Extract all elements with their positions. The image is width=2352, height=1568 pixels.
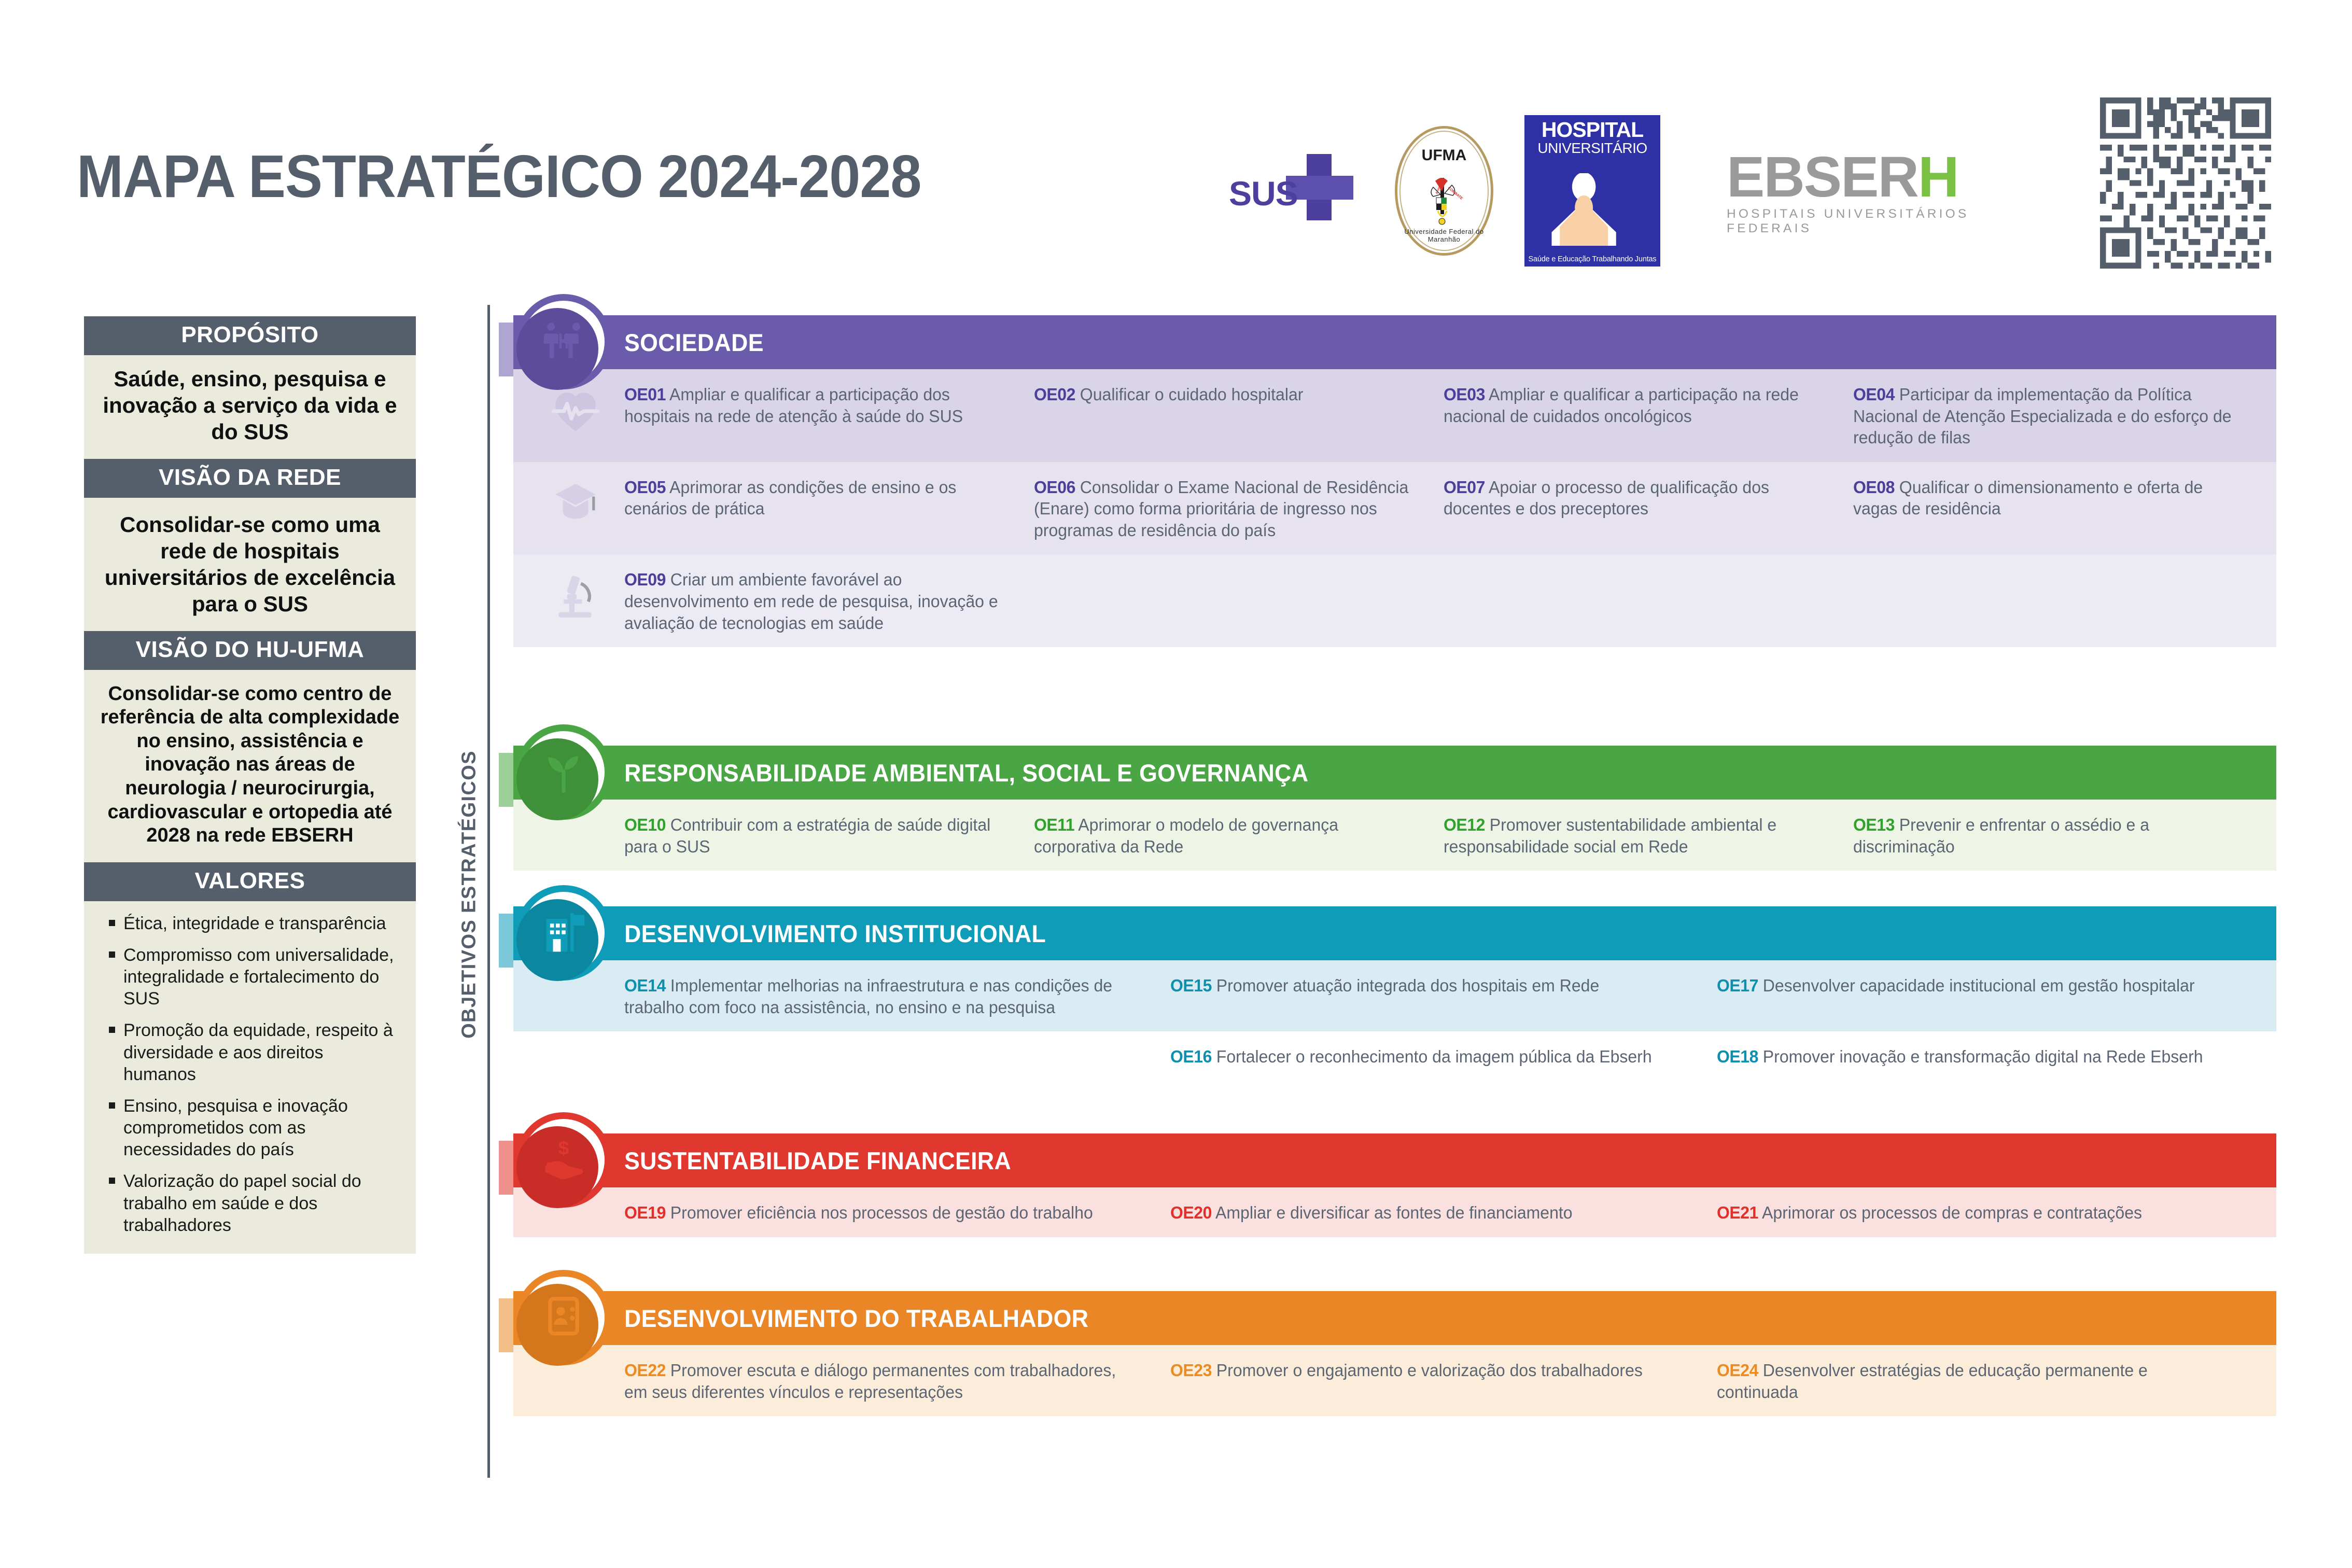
objective-OE19: OE19 Promover eficiência nos processos d… bbox=[624, 1202, 1170, 1224]
objective-OE03: OE03 Ampliar e qualificar a participação… bbox=[1444, 384, 1853, 449]
perspective-bar-sociedade: SOCIEDADE bbox=[513, 315, 2276, 369]
objective-paragraph: OE18 Promover inovação e transformação d… bbox=[1717, 1046, 2230, 1068]
perspective-badge-trabalhador bbox=[523, 1277, 605, 1359]
objective-text: Consolidar o Exame Nacional de Residênci… bbox=[1034, 478, 1408, 540]
two-people-icon bbox=[542, 320, 585, 363]
perspective-rows-financeira: OE19 Promover eficiência nos processos d… bbox=[513, 1187, 2276, 1237]
objective-text: Apoiar o processo de qualificação dos do… bbox=[1444, 478, 1769, 519]
objective-code: OE05 bbox=[624, 478, 666, 497]
objective-paragraph: OE03 Ampliar e qualificar a participação… bbox=[1444, 384, 1824, 427]
objective-text: Aprimorar os processos de compras e cont… bbox=[1758, 1203, 2142, 1222]
objective-text: Desenvolver estratégias de educação perm… bbox=[1717, 1361, 2148, 1402]
objective-OE06: OE06 Consolidar o Exame Nacional de Resi… bbox=[1034, 477, 1444, 541]
objective-text: Prevenir e enfrentar o assédio e a discr… bbox=[1853, 815, 2149, 856]
objective-OE17: OE17 Desenvolver capacidade instituciona… bbox=[1717, 975, 2263, 1018]
perspective-rows-sociedade: OE01 Ampliar e qualificar a participação… bbox=[513, 369, 2276, 647]
objective-OE12: OE12 Promover sustentabilidade ambiental… bbox=[1444, 814, 1853, 857]
objective-OE13: OE13 Prevenir e enfrentar o assédio e a … bbox=[1853, 814, 2263, 857]
objective-OE10: OE10 Contribuir com a estratégia de saúd… bbox=[624, 814, 1034, 857]
objective-code: OE04 bbox=[1853, 385, 1895, 404]
row-icon-wrapper bbox=[552, 573, 599, 621]
objective-code: OE22 bbox=[624, 1361, 666, 1380]
objective-code: OE19 bbox=[624, 1203, 666, 1222]
objective-text: Ampliar e qualificar a participação na r… bbox=[1444, 385, 1799, 426]
perspective-badge-financeira: $ bbox=[523, 1119, 605, 1201]
objective-paragraph: OE09 Criar um ambiente favorável ao dese… bbox=[624, 569, 1016, 634]
objective-text: Qualificar o cuidado hospitalar bbox=[1075, 385, 1304, 404]
objective-code: OE11 bbox=[1034, 815, 1074, 834]
hospital-building-icon bbox=[542, 911, 585, 955]
objective-OE18: OE18 Promover inovação e transformação d… bbox=[1717, 1046, 2263, 1068]
objective-OE07: OE07 Apoiar o processo de qualificação d… bbox=[1444, 477, 1853, 541]
perspective-badge-sociedade bbox=[523, 301, 605, 383]
objective-code: OE23 bbox=[1170, 1361, 1212, 1380]
objective-row: OE05 Aprimorar as condições de ensino e … bbox=[513, 462, 2276, 555]
perspective-title-financeira: SUSTENTABILIDADE FINANCEIRA bbox=[624, 1146, 1011, 1175]
objective-code: OE14 bbox=[624, 976, 666, 995]
objective-spacer bbox=[624, 1046, 1170, 1068]
heartbeat-icon bbox=[552, 388, 599, 436]
objective-code: OE15 bbox=[1170, 976, 1212, 995]
objective-paragraph: OE01 Ampliar e qualificar a participação… bbox=[624, 384, 1004, 427]
perspective-institucional: DESENVOLVIMENTO INSTITUCIONALOE14 Implem… bbox=[513, 906, 2276, 1081]
objective-paragraph: OE08 Qualificar o dimensionamento e ofer… bbox=[1853, 477, 2233, 520]
objective-row: OE09 Criar um ambiente favorável ao dese… bbox=[513, 554, 2276, 647]
objective-text: Aprimorar as condições de ensino e os ce… bbox=[624, 478, 956, 519]
objective-OE14: OE14 Implementar melhorias na infraestru… bbox=[624, 975, 1170, 1018]
microscope-icon bbox=[552, 573, 599, 621]
svg-text:$: $ bbox=[558, 1138, 569, 1159]
objective-paragraph: OE14 Implementar melhorias na infraestru… bbox=[624, 975, 1137, 1018]
objective-paragraph: OE02 Qualificar o cuidado hospitalar bbox=[1034, 384, 1414, 405]
objective-OE23: OE23 Promover o engajamento e valorizaçã… bbox=[1170, 1360, 1716, 1403]
objective-OE20: OE20 Ampliar e diversificar as fontes de… bbox=[1170, 1202, 1716, 1224]
objective-paragraph: OE15 Promover atuação integrada dos hosp… bbox=[1170, 975, 1683, 997]
objective-paragraph: OE06 Consolidar o Exame Nacional de Resi… bbox=[1034, 477, 1414, 541]
perspective-responsabilidade: RESPONSABILIDADE AMBIENTAL, SOCIAL E GOV… bbox=[513, 746, 2276, 871]
objective-text: Aprimorar o modelo de governança corpora… bbox=[1034, 815, 1338, 856]
perspective-bar-trabalhador: DESENVOLVIMENTO DO TRABALHADOR bbox=[513, 1291, 2276, 1345]
perspective-rows-responsabilidade: OE10 Contribuir com a estratégia de saúd… bbox=[513, 800, 2276, 871]
objective-paragraph: OE12 Promover sustentabilidade ambiental… bbox=[1444, 814, 1824, 857]
hand-money-icon: $ bbox=[542, 1138, 585, 1182]
objective-paragraph: OE19 Promover eficiência nos processos d… bbox=[624, 1202, 1137, 1224]
sprout-icon bbox=[542, 750, 585, 794]
perspective-title-trabalhador: DESENVOLVIMENTO DO TRABALHADOR bbox=[624, 1304, 1088, 1333]
perspective-bar-responsabilidade: RESPONSABILIDADE AMBIENTAL, SOCIAL E GOV… bbox=[513, 746, 2276, 800]
perspective-bar-financeira: SUSTENTABILIDADE FINANCEIRA$ bbox=[513, 1133, 2276, 1187]
objective-code: OE12 bbox=[1444, 815, 1485, 834]
objective-OE21: OE21 Aprimorar os processos de compras e… bbox=[1717, 1202, 2263, 1224]
objective-text: Promover atuação integrada dos hospitais… bbox=[1212, 976, 1599, 995]
perspective-trabalhador: DESENVOLVIMENTO DO TRABALHADOROE22 Promo… bbox=[513, 1291, 2276, 1416]
row-icon-wrapper bbox=[552, 481, 599, 528]
row-icon-wrapper bbox=[552, 388, 599, 436]
objective-text: Promover escuta e diálogo permanentes co… bbox=[624, 1361, 1116, 1402]
objective-text: Promover sustentabilidade ambiental e re… bbox=[1444, 815, 1776, 856]
objective-paragraph: OE21 Aprimorar os processos de compras e… bbox=[1717, 1202, 2230, 1224]
perspective-badge-responsabilidade bbox=[523, 731, 605, 813]
objective-OE02: OE02 Qualificar o cuidado hospitalar bbox=[1034, 384, 1444, 449]
objective-text: Promover eficiência nos processos de ges… bbox=[666, 1203, 1093, 1222]
objective-code: OE03 bbox=[1444, 385, 1485, 404]
strategy-board: SOCIEDADEOE01 Ampliar e qualificar a par… bbox=[0, 0, 2352, 1568]
objective-code: OE09 bbox=[624, 570, 666, 589]
objective-code: OE24 bbox=[1717, 1361, 1758, 1380]
objective-code: OE16 bbox=[1170, 1047, 1212, 1066]
objective-row: OE10 Contribuir com a estratégia de saúd… bbox=[513, 800, 2276, 871]
perspective-financeira: SUSTENTABILIDADE FINANCEIRA$OE19 Promove… bbox=[513, 1133, 2276, 1237]
perspective-title-responsabilidade: RESPONSABILIDADE AMBIENTAL, SOCIAL E GOV… bbox=[624, 759, 1308, 787]
objective-row: OE14 Implementar melhorias na infraestru… bbox=[513, 960, 2276, 1031]
objective-code: OE01 bbox=[624, 385, 666, 404]
objective-paragraph: OE22 Promover escuta e diálogo permanent… bbox=[624, 1360, 1137, 1403]
objective-text: Criar um ambiente favorável ao desenvolv… bbox=[624, 570, 998, 632]
objective-paragraph: OE05 Aprimorar as condições de ensino e … bbox=[624, 477, 1004, 520]
objective-code: OE21 bbox=[1717, 1203, 1758, 1222]
objective-text: Promover inovação e transformação digita… bbox=[1758, 1047, 2203, 1066]
perspective-sociedade: SOCIEDADEOE01 Ampliar e qualificar a par… bbox=[513, 315, 2276, 647]
objective-code: OE18 bbox=[1717, 1047, 1758, 1066]
perspective-title-institucional: DESENVOLVIMENTO INSTITUCIONAL bbox=[624, 919, 1046, 948]
objective-OE08: OE08 Qualificar o dimensionamento e ofer… bbox=[1853, 477, 2263, 541]
objective-text: Ampliar e qualificar a participação dos … bbox=[624, 385, 963, 426]
perspective-rows-institucional: OE14 Implementar melhorias na infraestru… bbox=[513, 960, 2276, 1081]
objective-paragraph: OE17 Desenvolver capacidade instituciona… bbox=[1717, 975, 2230, 997]
objective-text: Implementar melhorias na infraestrutura … bbox=[624, 976, 1112, 1017]
objective-code: OE06 bbox=[1034, 478, 1075, 497]
objective-code: OE02 bbox=[1034, 385, 1075, 404]
objective-code: OE17 bbox=[1717, 976, 1758, 995]
perspective-bar-institucional: DESENVOLVIMENTO INSTITUCIONAL bbox=[513, 906, 2276, 960]
perspective-badge-institucional bbox=[523, 892, 605, 974]
objective-code: OE10 bbox=[624, 815, 666, 834]
objective-code: OE13 bbox=[1853, 815, 1895, 834]
objective-text: Fortalecer o reconhecimento da imagem pú… bbox=[1212, 1047, 1652, 1066]
objective-paragraph: OE16 Fortalecer o reconhecimento da imag… bbox=[1170, 1046, 1683, 1068]
objective-row: OE16 Fortalecer o reconhecimento da imag… bbox=[513, 1031, 2276, 1081]
objective-paragraph: OE20 Ampliar e diversificar as fontes de… bbox=[1170, 1202, 1683, 1224]
objective-OE09: OE09 Criar um ambiente favorável ao dese… bbox=[624, 569, 1045, 634]
objective-paragraph: OE04 Participar da implementação da Polí… bbox=[1853, 384, 2233, 449]
objective-text: Contribuir com a estratégia de saúde dig… bbox=[624, 815, 990, 856]
objective-paragraph: OE24 Desenvolver estratégias de educação… bbox=[1717, 1360, 2230, 1403]
objective-paragraph: OE13 Prevenir e enfrentar o assédio e a … bbox=[1853, 814, 2233, 857]
objective-paragraph: OE11 Aprimorar o modelo de governança co… bbox=[1034, 814, 1414, 857]
objective-code: OE20 bbox=[1170, 1203, 1212, 1222]
id-badge-icon bbox=[542, 1296, 585, 1339]
objective-code: OE07 bbox=[1444, 478, 1485, 497]
objective-text: Participar da implementação da Política … bbox=[1853, 385, 2232, 447]
objective-paragraph: OE23 Promover o engajamento e valorizaçã… bbox=[1170, 1360, 1683, 1381]
objective-row: OE22 Promover escuta e diálogo permanent… bbox=[513, 1345, 2276, 1416]
objective-text: Promover o engajamento e valorização dos… bbox=[1212, 1361, 1643, 1380]
perspective-title-sociedade: SOCIEDADE bbox=[624, 328, 764, 357]
objective-OE22: OE22 Promover escuta e diálogo permanent… bbox=[624, 1360, 1170, 1403]
objective-text: Qualificar o dimensionamento e oferta de… bbox=[1853, 478, 2203, 519]
objective-OE15: OE15 Promover atuação integrada dos hosp… bbox=[1170, 975, 1716, 1018]
objective-code: OE08 bbox=[1853, 478, 1895, 497]
perspective-rows-trabalhador: OE22 Promover escuta e diálogo permanent… bbox=[513, 1345, 2276, 1416]
objective-OE11: OE11 Aprimorar o modelo de governança co… bbox=[1034, 814, 1444, 857]
objective-OE05: OE05 Aprimorar as condições de ensino e … bbox=[624, 477, 1034, 541]
objective-OE24: OE24 Desenvolver estratégias de educação… bbox=[1717, 1360, 2263, 1403]
objective-paragraph: OE10 Contribuir com a estratégia de saúd… bbox=[624, 814, 1004, 857]
objective-paragraph: OE07 Apoiar o processo de qualificação d… bbox=[1444, 477, 1824, 520]
graduation-cap-icon bbox=[552, 481, 599, 528]
objective-text: Desenvolver capacidade institucional em … bbox=[1758, 976, 2195, 995]
objective-OE01: OE01 Ampliar e qualificar a participação… bbox=[624, 384, 1034, 449]
objective-text: Ampliar e diversificar as fontes de fina… bbox=[1212, 1203, 1573, 1222]
objective-OE16: OE16 Fortalecer o reconhecimento da imag… bbox=[1170, 1046, 1716, 1068]
objective-OE04: OE04 Participar da implementação da Polí… bbox=[1853, 384, 2263, 449]
objective-row: OE19 Promover eficiência nos processos d… bbox=[513, 1187, 2276, 1237]
objective-row: OE01 Ampliar e qualificar a participação… bbox=[513, 369, 2276, 462]
